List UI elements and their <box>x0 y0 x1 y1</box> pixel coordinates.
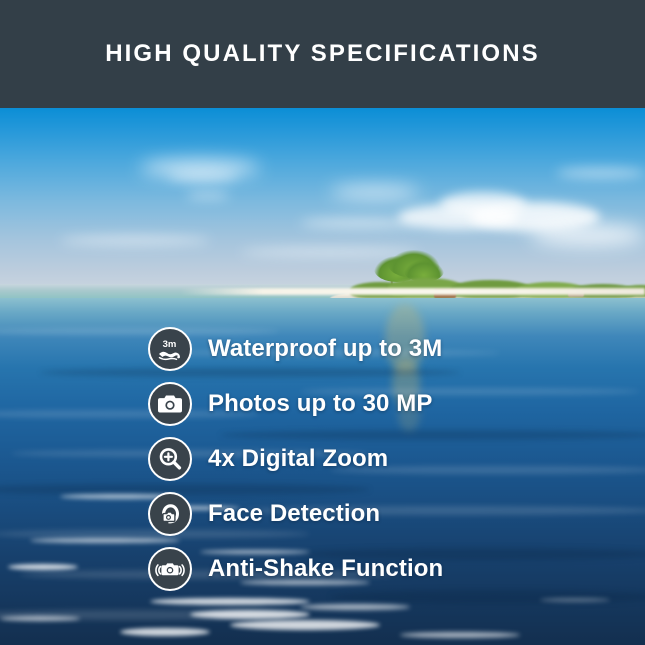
wave-foam <box>400 632 520 638</box>
cloud-icon <box>330 186 420 198</box>
waterproof-3m-wave-icon: 3m <box>148 327 192 371</box>
feature-item-digital-zoom[interactable]: 4x Digital Zoom <box>148 437 443 481</box>
wave-foam <box>0 616 80 621</box>
face-detection-icon <box>148 492 192 536</box>
cloud-icon <box>556 168 645 178</box>
cloud-icon <box>168 172 238 181</box>
header-bar: HIGH QUALITY SPECIFICATIONS <box>0 0 645 108</box>
feature-item-photos[interactable]: Photos up to 30 MP <box>148 382 443 426</box>
cloud-icon <box>60 236 210 245</box>
wave-foam <box>230 620 380 630</box>
wave-foam <box>540 598 610 602</box>
island <box>330 256 645 304</box>
wave-foam <box>120 628 210 636</box>
product-feature-poster: HIGH QUALITY SPECIFICATIONS <box>0 0 645 645</box>
wave-foam <box>150 598 310 605</box>
feature-label: Face Detection <box>208 500 380 528</box>
beach-strip <box>180 288 645 295</box>
page-title: HIGH QUALITY SPECIFICATIONS <box>105 40 540 68</box>
water-ripple <box>330 590 645 604</box>
svg-text:3m: 3m <box>163 339 177 350</box>
feature-item-face-detection[interactable]: Face Detection <box>148 492 443 536</box>
cloud-icon <box>186 192 230 199</box>
magnifier-plus-zoom-icon <box>148 437 192 481</box>
feature-list: 3m Waterproof up to 3M Photos up to 30 M… <box>148 327 443 591</box>
feature-label: 4x Digital Zoom <box>208 445 388 473</box>
feature-label: Waterproof up to 3M <box>208 335 442 363</box>
anti-shake-camera-icon <box>148 547 192 591</box>
wave-foam <box>300 604 410 610</box>
feature-label: Anti-Shake Function <box>208 555 443 583</box>
feature-label: Photos up to 30 MP <box>208 390 432 418</box>
wave-foam <box>190 610 310 619</box>
cloud-icon <box>530 224 645 246</box>
camera-icon <box>148 382 192 426</box>
feature-item-waterproof[interactable]: 3m Waterproof up to 3M <box>148 327 443 371</box>
feature-item-anti-shake[interactable]: Anti-Shake Function <box>148 547 443 591</box>
wave-foam <box>8 564 78 570</box>
